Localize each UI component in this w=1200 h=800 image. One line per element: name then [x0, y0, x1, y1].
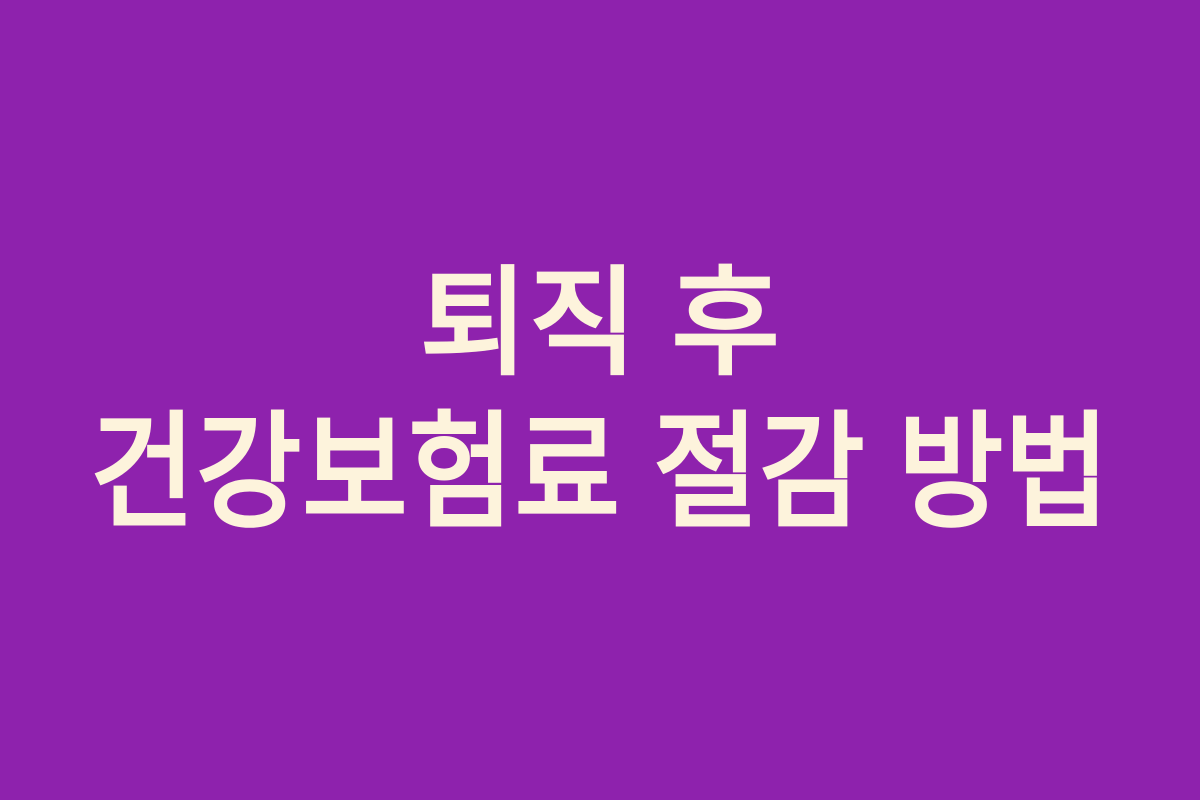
title-block: 퇴직 후 건강보험료 절감 방법 [0, 253, 1200, 548]
title-line-2: 건강보험료 절감 방법 [54, 399, 1147, 548]
thumbnail-card: 퇴직 후 건강보험료 절감 방법 [0, 0, 1200, 800]
title-line-1: 퇴직 후 [0, 253, 1200, 399]
